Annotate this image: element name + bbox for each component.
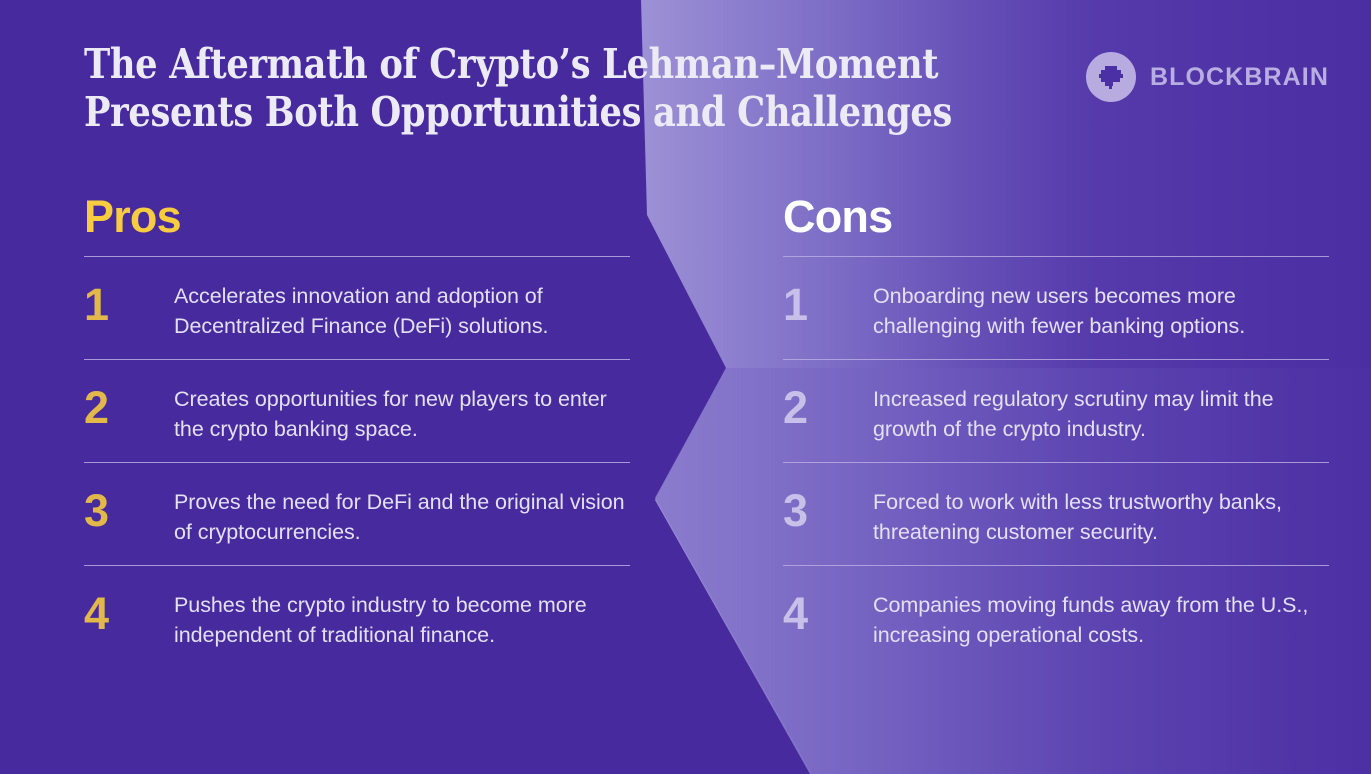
list-item: 4 Pushes the crypto industry to become m…: [84, 566, 630, 668]
brain-icon: [1086, 52, 1136, 102]
list-item: 4 Companies moving funds away from the U…: [783, 566, 1329, 668]
divider-rule: [783, 359, 1329, 360]
item-text: Proves the need for DeFi and the origina…: [174, 483, 630, 547]
item-text: Creates opportunities for new players to…: [174, 380, 630, 444]
item-number: 4: [84, 586, 174, 642]
item-text: Pushes the crypto industry to become mor…: [174, 586, 630, 650]
divider-rule: [84, 359, 630, 360]
logo-wordmark: BLOCKBRAIN: [1150, 63, 1329, 92]
item-number: 1: [84, 277, 174, 333]
item-number: 4: [783, 586, 873, 642]
item-text: Onboarding new users becomes more challe…: [873, 277, 1329, 341]
item-number: 3: [84, 483, 174, 539]
column-pros: Pros 1 Accelerates innovation and adopti…: [84, 192, 630, 668]
infographic-slide: The Aftermath of Crypto’s Lehman–Moment …: [0, 0, 1371, 774]
list-item: 1 Onboarding new users becomes more chal…: [783, 257, 1329, 359]
list-item: 2 Creates opportunities for new players …: [84, 360, 630, 462]
list-item: 2 Increased regulatory scrutiny may limi…: [783, 360, 1329, 462]
item-text: Increased regulatory scrutiny may limit …: [873, 380, 1329, 444]
brand-logo: BLOCKBRAIN: [1086, 52, 1329, 102]
item-number: 2: [84, 380, 174, 436]
title-line-1: The Aftermath of Crypto’s Lehman–Moment: [84, 40, 858, 88]
list-item: 3 Forced to work with less trustworthy b…: [783, 463, 1329, 565]
divider-rule: [84, 565, 630, 566]
column-heading-pros: Pros: [84, 192, 630, 242]
divider-rule: [783, 462, 1329, 463]
item-text: Forced to work with less trustworthy ban…: [873, 483, 1329, 547]
item-text: Companies moving funds away from the U.S…: [873, 586, 1329, 650]
list-item: 1 Accelerates innovation and adoption of…: [84, 257, 630, 359]
column-cons: Cons 1 Onboarding new users becomes more…: [783, 192, 1329, 668]
divider-rule: [84, 256, 630, 257]
slide-header: The Aftermath of Crypto’s Lehman–Moment …: [0, 0, 1371, 168]
item-text: Accelerates innovation and adoption of D…: [174, 277, 630, 341]
divider-rule: [783, 565, 1329, 566]
item-number: 1: [783, 277, 873, 333]
item-number: 2: [783, 380, 873, 436]
item-number: 3: [783, 483, 873, 539]
page-title: The Aftermath of Crypto’s Lehman–Moment …: [84, 40, 858, 136]
divider-rule: [84, 462, 630, 463]
divider-rule: [783, 256, 1329, 257]
column-heading-cons: Cons: [783, 192, 1329, 242]
list-item: 3 Proves the need for DeFi and the origi…: [84, 463, 630, 565]
title-line-2: Presents Both Opportunities and Challeng…: [84, 88, 858, 136]
